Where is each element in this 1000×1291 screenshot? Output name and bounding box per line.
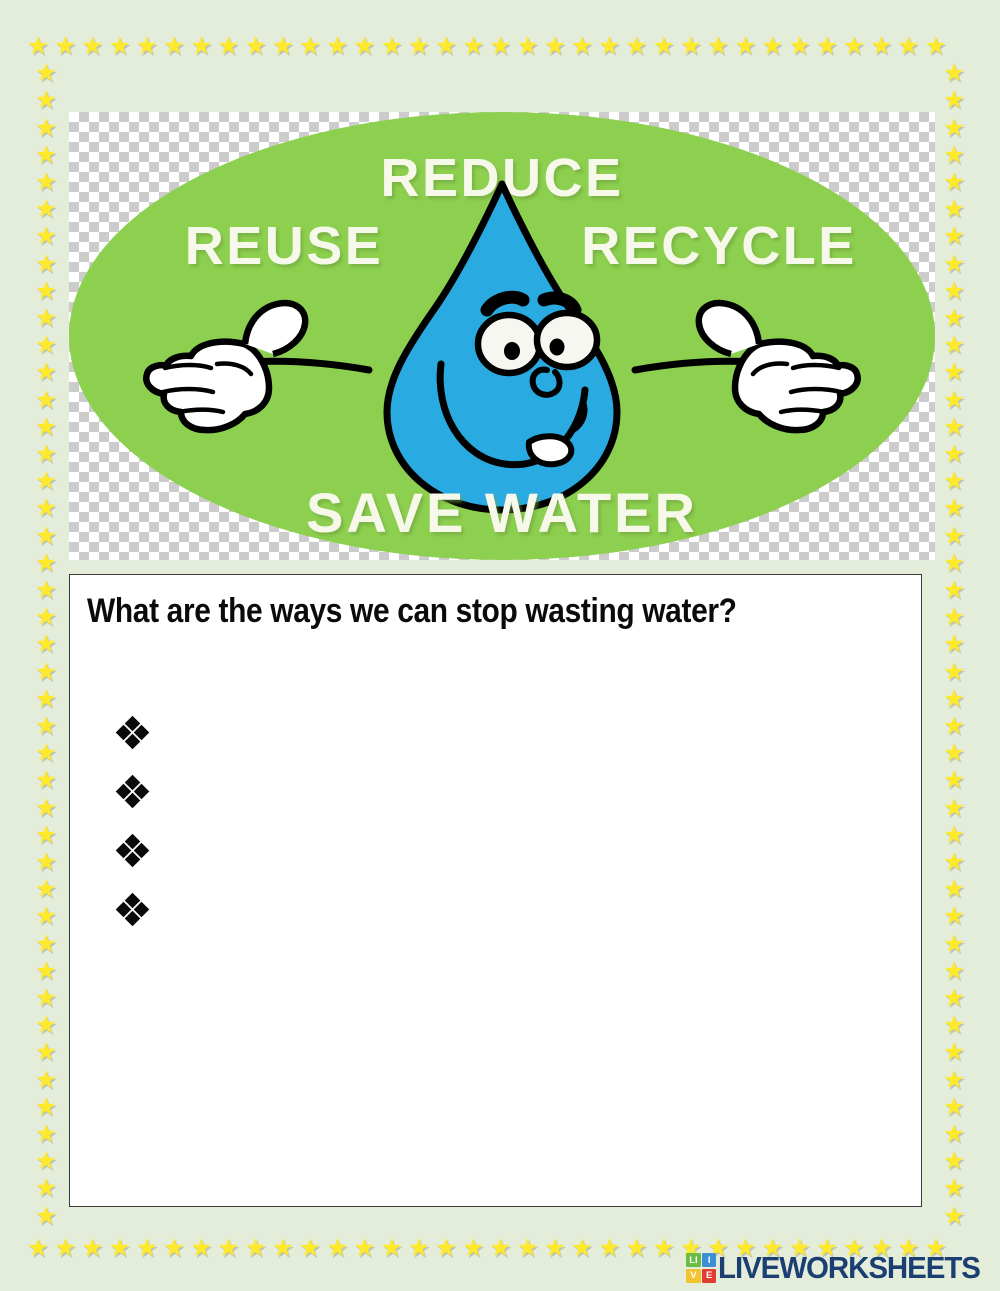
star-top: ★ <box>543 34 567 58</box>
diamond-bullet-icon <box>117 895 147 925</box>
star-bottom: ★ <box>108 1236 132 1260</box>
logo-tile-i: I <box>702 1253 716 1267</box>
answer-box[interactable]: What are the ways we can stop wasting wa… <box>69 574 922 1207</box>
star-right: ★ <box>942 496 966 520</box>
answer-bullet-list <box>117 718 147 954</box>
star-top: ★ <box>407 34 431 58</box>
star-left: ★ <box>34 360 58 384</box>
star-right: ★ <box>942 1204 966 1228</box>
star-right: ★ <box>942 850 966 874</box>
star-top: ★ <box>842 34 866 58</box>
star-bottom: ★ <box>597 1236 621 1260</box>
star-left: ★ <box>34 714 58 738</box>
star-right: ★ <box>942 551 966 575</box>
star-left: ★ <box>34 333 58 357</box>
star-top: ★ <box>652 34 676 58</box>
star-right: ★ <box>942 88 966 112</box>
star-bottom: ★ <box>53 1236 77 1260</box>
star-right: ★ <box>942 741 966 765</box>
star-left: ★ <box>34 660 58 684</box>
star-right: ★ <box>942 877 966 901</box>
star-left: ★ <box>34 687 58 711</box>
star-right: ★ <box>942 687 966 711</box>
star-right: ★ <box>942 1068 966 1092</box>
star-left: ★ <box>34 877 58 901</box>
star-left: ★ <box>34 1040 58 1064</box>
diamond-bullet-icon <box>117 718 147 748</box>
star-bottom: ★ <box>488 1236 512 1260</box>
star-top: ★ <box>788 34 812 58</box>
star-bottom: ★ <box>189 1236 213 1260</box>
star-top: ★ <box>244 34 268 58</box>
star-top: ★ <box>380 34 404 58</box>
star-right: ★ <box>942 959 966 983</box>
star-left: ★ <box>34 88 58 112</box>
star-top: ★ <box>815 34 839 58</box>
star-right: ★ <box>942 1013 966 1037</box>
star-right: ★ <box>942 360 966 384</box>
answer-line[interactable] <box>117 718 147 777</box>
star-left: ★ <box>34 850 58 874</box>
star-left: ★ <box>34 632 58 656</box>
star-top: ★ <box>679 34 703 58</box>
star-right: ★ <box>942 660 966 684</box>
logo-tile-li: LI <box>686 1253 700 1267</box>
star-right: ★ <box>942 932 966 956</box>
star-right: ★ <box>942 61 966 85</box>
star-bottom: ★ <box>407 1236 431 1260</box>
star-right: ★ <box>942 714 966 738</box>
star-bottom: ★ <box>135 1236 159 1260</box>
star-left: ★ <box>34 61 58 85</box>
star-top: ★ <box>570 34 594 58</box>
star-right: ★ <box>942 252 966 276</box>
star-bottom: ★ <box>271 1236 295 1260</box>
star-top: ★ <box>597 34 621 58</box>
diamond-bullet-icon <box>117 777 147 807</box>
star-left: ★ <box>34 741 58 765</box>
star-bottom: ★ <box>380 1236 404 1260</box>
star-left: ★ <box>34 143 58 167</box>
star-top: ★ <box>488 34 512 58</box>
star-right: ★ <box>942 1095 966 1119</box>
star-top: ★ <box>461 34 485 58</box>
star-bottom: ★ <box>216 1236 240 1260</box>
star-bottom: ★ <box>298 1236 322 1260</box>
droplet-tooth <box>529 436 572 464</box>
logo-tile-e: E <box>702 1269 716 1283</box>
star-left: ★ <box>34 252 58 276</box>
star-top: ★ <box>53 34 77 58</box>
save-water-poster-svg: REDUCE REUSE RECYCLE <box>69 112 935 560</box>
poster-line-save-water: SAVE WATER <box>306 481 698 544</box>
star-top: ★ <box>325 34 349 58</box>
star-left: ★ <box>34 170 58 194</box>
star-top: ★ <box>516 34 540 58</box>
star-left: ★ <box>34 959 58 983</box>
star-top: ★ <box>869 34 893 58</box>
star-top: ★ <box>26 34 50 58</box>
star-right: ★ <box>942 796 966 820</box>
answer-line[interactable] <box>117 836 147 895</box>
star-right: ★ <box>942 469 966 493</box>
droplet-pupil-right <box>550 339 565 356</box>
star-bottom: ★ <box>325 1236 349 1260</box>
star-right: ★ <box>942 306 966 330</box>
logo-tile-v: V <box>686 1269 700 1283</box>
star-right: ★ <box>942 768 966 792</box>
star-left: ★ <box>34 496 58 520</box>
star-top: ★ <box>434 34 458 58</box>
star-top: ★ <box>271 34 295 58</box>
star-right: ★ <box>942 442 966 466</box>
star-right: ★ <box>942 904 966 928</box>
star-right: ★ <box>942 578 966 602</box>
star-right: ★ <box>942 197 966 221</box>
star-left: ★ <box>34 1149 58 1173</box>
star-left: ★ <box>34 605 58 629</box>
star-bottom: ★ <box>434 1236 458 1260</box>
star-top: ★ <box>760 34 784 58</box>
star-top: ★ <box>108 34 132 58</box>
illustration-panel: REDUCE REUSE RECYCLE <box>69 112 935 560</box>
star-right: ★ <box>942 388 966 412</box>
star-bottom: ★ <box>244 1236 268 1260</box>
star-right: ★ <box>942 224 966 248</box>
star-left: ★ <box>34 578 58 602</box>
liveworksheets-wordmark: LIVEWORKSHEETS <box>718 1250 980 1286</box>
star-left: ★ <box>34 1068 58 1092</box>
star-left: ★ <box>34 1176 58 1200</box>
star-bottom: ★ <box>652 1236 676 1260</box>
star-bottom: ★ <box>162 1236 186 1260</box>
star-left: ★ <box>34 904 58 928</box>
poster-line-recycle: RECYCLE <box>581 216 857 276</box>
star-right: ★ <box>942 333 966 357</box>
star-top: ★ <box>80 34 104 58</box>
droplet-eye-right <box>537 313 597 367</box>
star-right: ★ <box>942 415 966 439</box>
star-right: ★ <box>942 170 966 194</box>
star-left: ★ <box>34 1122 58 1146</box>
star-bottom: ★ <box>352 1236 376 1260</box>
star-right: ★ <box>942 1176 966 1200</box>
star-left: ★ <box>34 1095 58 1119</box>
star-bottom: ★ <box>26 1236 50 1260</box>
answer-line[interactable] <box>117 777 147 836</box>
diamond-bullet-icon <box>117 836 147 866</box>
star-top: ★ <box>352 34 376 58</box>
star-left: ★ <box>34 116 58 140</box>
star-left: ★ <box>34 306 58 330</box>
star-right: ★ <box>942 524 966 548</box>
star-right: ★ <box>942 1149 966 1173</box>
star-top: ★ <box>706 34 730 58</box>
star-top: ★ <box>135 34 159 58</box>
star-left: ★ <box>34 415 58 439</box>
star-right: ★ <box>942 632 966 656</box>
star-left: ★ <box>34 224 58 248</box>
star-right: ★ <box>942 823 966 847</box>
star-top: ★ <box>624 34 648 58</box>
answer-line[interactable] <box>117 895 147 954</box>
star-left: ★ <box>34 388 58 412</box>
star-left: ★ <box>34 768 58 792</box>
star-right: ★ <box>942 143 966 167</box>
star-bottom: ★ <box>80 1236 104 1260</box>
star-left: ★ <box>34 1204 58 1228</box>
question-text: What are the ways we can stop wasting wa… <box>87 591 791 632</box>
star-top: ★ <box>733 34 757 58</box>
star-top: ★ <box>924 34 948 58</box>
star-top: ★ <box>189 34 213 58</box>
star-left: ★ <box>34 986 58 1010</box>
star-left: ★ <box>34 796 58 820</box>
star-bottom: ★ <box>624 1236 648 1260</box>
star-right: ★ <box>942 1122 966 1146</box>
star-left: ★ <box>34 932 58 956</box>
star-right: ★ <box>942 279 966 303</box>
star-right: ★ <box>942 116 966 140</box>
star-top: ★ <box>896 34 920 58</box>
star-left: ★ <box>34 469 58 493</box>
poster-line-reuse: REUSE <box>185 216 384 276</box>
droplet-pupil-left <box>504 342 520 360</box>
star-right: ★ <box>942 986 966 1010</box>
star-top: ★ <box>216 34 240 58</box>
liveworksheets-logo: LIIVE LIVEWORKSHEETS <box>686 1251 994 1285</box>
star-left: ★ <box>34 823 58 847</box>
star-left: ★ <box>34 279 58 303</box>
star-bottom: ★ <box>461 1236 485 1260</box>
star-right: ★ <box>942 605 966 629</box>
liveworksheets-tiles-icon: LIIVE <box>686 1253 716 1283</box>
star-left: ★ <box>34 442 58 466</box>
star-bottom: ★ <box>570 1236 594 1260</box>
star-bottom: ★ <box>543 1236 567 1260</box>
star-top: ★ <box>162 34 186 58</box>
star-left: ★ <box>34 551 58 575</box>
star-top: ★ <box>298 34 322 58</box>
star-left: ★ <box>34 197 58 221</box>
star-bottom: ★ <box>516 1236 540 1260</box>
star-left: ★ <box>34 1013 58 1037</box>
star-left: ★ <box>34 524 58 548</box>
star-right: ★ <box>942 1040 966 1064</box>
